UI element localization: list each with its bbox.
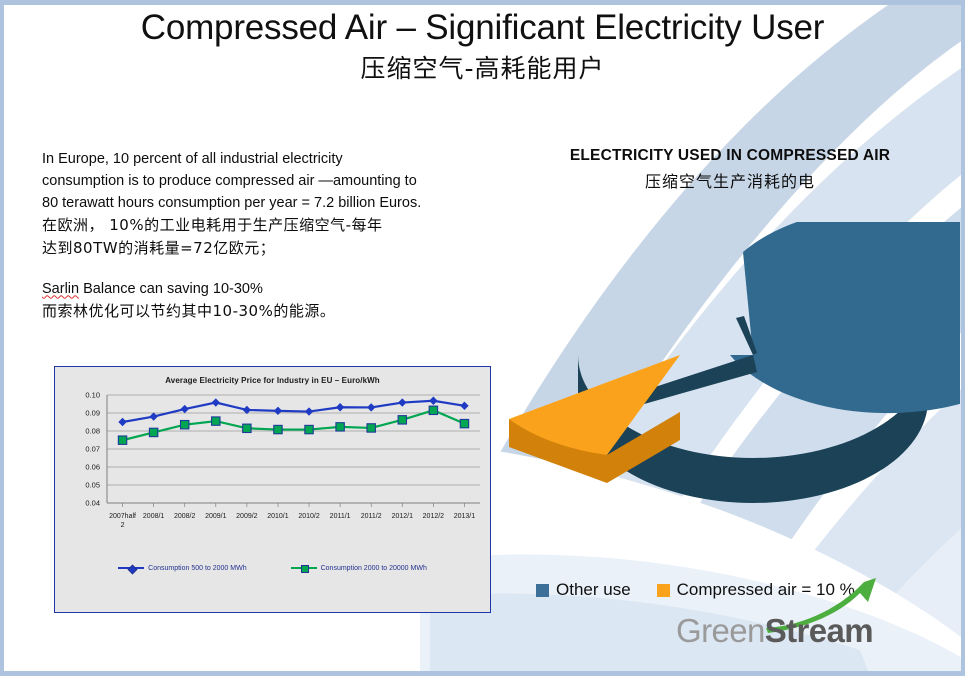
body-line-7-chinese: 而索林优化可以节约其中10-30%的能源。 <box>42 300 502 323</box>
legend-marker-green-square-icon <box>291 564 317 572</box>
body-line-1: In Europe, 10 percent of all industrial … <box>42 148 502 170</box>
svg-text:2: 2 <box>121 522 125 529</box>
svg-text:2012/1: 2012/1 <box>392 513 414 520</box>
pie-heading-chinese: 压缩空气生产消耗的电 <box>520 168 940 192</box>
pie-chart-heading: ELECTRICITY USED IN COMPRESSED AIR 压缩空气生… <box>520 147 940 192</box>
svg-text:2012/2: 2012/2 <box>423 513 445 520</box>
pie-chart-3d <box>495 222 960 567</box>
pie-legend-swatch-blue-icon <box>536 584 549 597</box>
legend-item-series-2: Consumption 2000 to 20000 MWh <box>291 564 427 572</box>
svg-text:0.08: 0.08 <box>85 427 100 436</box>
svg-text:0.09: 0.09 <box>85 409 100 418</box>
legend-label-series-2: Consumption 2000 to 20000 MWh <box>321 565 427 572</box>
body-line-2: consumption is to produce compressed air… <box>42 170 502 192</box>
svg-text:2007half: 2007half <box>109 513 136 520</box>
svg-text:0.10: 0.10 <box>85 391 100 400</box>
svg-text:2008/2: 2008/2 <box>174 513 196 520</box>
pie-heading-english: ELECTRICITY USED IN COMPRESSED AIR <box>520 147 940 165</box>
body-line-6-rest: Balance can saving 10-30% <box>79 281 263 297</box>
line-chart: Average Electricity Price for Industry i… <box>54 366 491 613</box>
pie-legend-swatch-orange-icon <box>657 584 670 597</box>
pie-slice-other-use-top <box>730 222 960 413</box>
svg-text:0.04: 0.04 <box>85 499 100 508</box>
paragraph-spacer <box>42 261 502 278</box>
title-chinese: 压缩空气-高耗能用户 <box>0 49 965 85</box>
svg-text:2009/1: 2009/1 <box>205 513 227 520</box>
svg-text:2010/2: 2010/2 <box>298 513 320 520</box>
svg-text:2013/1: 2013/1 <box>454 513 476 520</box>
logo-wordmark: GreenStream <box>676 614 873 647</box>
misspelled-word: Sarlin <box>42 281 79 297</box>
body-text-block: In Europe, 10 percent of all industrial … <box>42 148 502 323</box>
svg-text:2011/1: 2011/1 <box>330 513 351 520</box>
pie-legend-item-other-use: Other use <box>536 580 631 600</box>
slide-title: Compressed Air – Significant Electricity… <box>0 8 965 85</box>
legend-item-series-1: Consumption 500 to 2000 MWh <box>118 564 246 572</box>
slide-border-left <box>0 0 4 676</box>
body-line-4-chinese: 在欧洲， 10%的工业电耗用于生产压缩空气-每年 <box>42 214 502 237</box>
line-chart-plot: 0.040.050.060.070.080.090.10 2007half220… <box>55 385 488 560</box>
body-line-3: 80 terawatt hours consumption per year =… <box>42 192 502 214</box>
svg-text:2008/1: 2008/1 <box>143 513 165 520</box>
logo-text-green: Green <box>676 612 765 649</box>
svg-text:2009/2: 2009/2 <box>236 513 258 520</box>
title-english: Compressed Air – Significant Electricity… <box>0 8 965 47</box>
body-line-5-chinese: 达到80TW的消耗量=72亿欧元； <box>42 237 502 260</box>
pie-chart-svg <box>495 222 960 567</box>
body-line-6: Sarlin Balance can saving 10-30% <box>42 278 502 300</box>
pie-legend-label-other-use: Other use <box>556 580 631 600</box>
logo-text-stream: Stream <box>765 612 873 649</box>
slide-border-right <box>961 0 965 676</box>
slide-border-top <box>0 0 965 5</box>
legend-marker-blue-diamond-icon <box>118 564 144 572</box>
svg-text:2011/2: 2011/2 <box>361 513 382 520</box>
greenstream-logo: GreenStream <box>676 600 906 656</box>
svg-text:0.07: 0.07 <box>85 445 100 454</box>
slide-border-bottom <box>0 671 965 676</box>
line-chart-legend: Consumption 500 to 2000 MWh Consumption … <box>55 564 490 572</box>
legend-label-series-1: Consumption 500 to 2000 MWh <box>148 565 246 572</box>
svg-text:0.05: 0.05 <box>85 481 100 490</box>
svg-text:0.06: 0.06 <box>85 463 100 472</box>
slide: Compressed Air – Significant Electricity… <box>0 0 965 676</box>
svg-text:2010/1: 2010/1 <box>267 513 289 520</box>
line-chart-title: Average Electricity Price for Industry i… <box>55 376 490 385</box>
